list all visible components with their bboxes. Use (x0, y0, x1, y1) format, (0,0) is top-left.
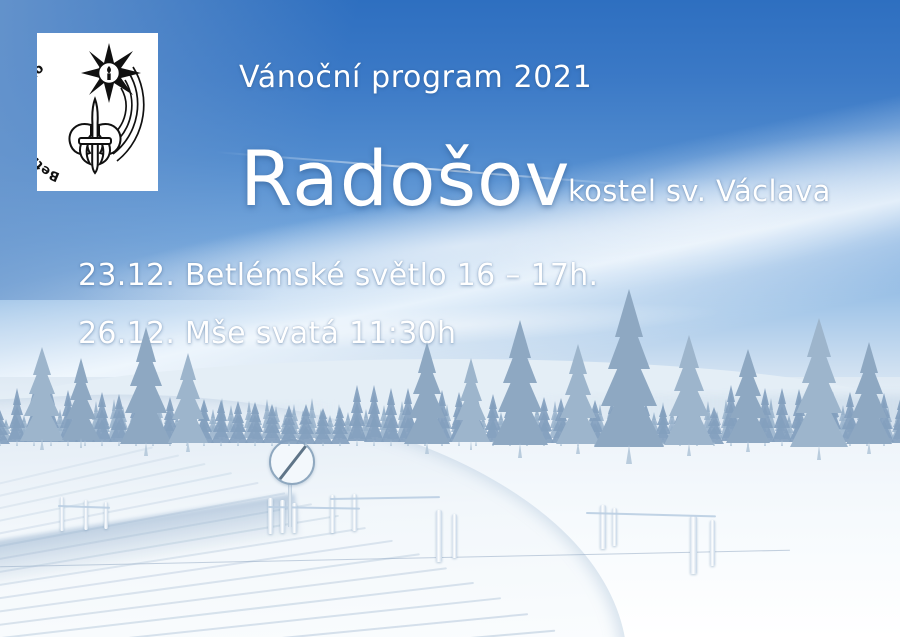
spruce-tree (594, 309, 664, 464)
fence-post (60, 497, 64, 531)
spruce-tree (62, 369, 100, 448)
logo-artwork: Betlémské světlo (37, 33, 158, 191)
eight-point-star-icon (81, 43, 141, 103)
page-title: Radošov (240, 134, 571, 223)
spruce-tree (790, 334, 848, 460)
spruce-tree (846, 355, 892, 454)
spruce-tree (726, 361, 770, 452)
tire-track (0, 597, 501, 637)
kicker-text: Vánoční program 2021 (239, 60, 592, 95)
spruce-tree (120, 342, 172, 456)
fence-post (330, 495, 335, 533)
event-line-1: 23.12. Betlémské světlo 16 – 17h. (78, 258, 598, 293)
spruce-tree (168, 365, 208, 452)
spruce-tree (891, 402, 900, 446)
tire-track (0, 630, 555, 637)
fence-post (452, 514, 457, 558)
spruce-tree (404, 355, 450, 454)
treeline (0, 386, 900, 466)
fence-post (268, 498, 273, 534)
fleur-de-lis-icon (69, 99, 120, 173)
spruce-tree (452, 369, 490, 450)
poster: Betlémské světlo (0, 0, 900, 637)
spruce-tree (664, 350, 714, 456)
logo-curved-text: Betlémské světlo (37, 61, 62, 184)
betlemske-svetlo-logo: Betlémské světlo (37, 33, 158, 191)
subtitle-text: kostel sv. Václava (568, 174, 831, 208)
fence-post (710, 520, 715, 566)
spruce-tree (492, 336, 548, 458)
fence-post (436, 510, 442, 562)
fence-post (84, 500, 88, 530)
fence-post (690, 516, 697, 574)
fence-post (280, 500, 285, 533)
spruce-tree (20, 359, 64, 450)
tire-track (0, 613, 528, 637)
